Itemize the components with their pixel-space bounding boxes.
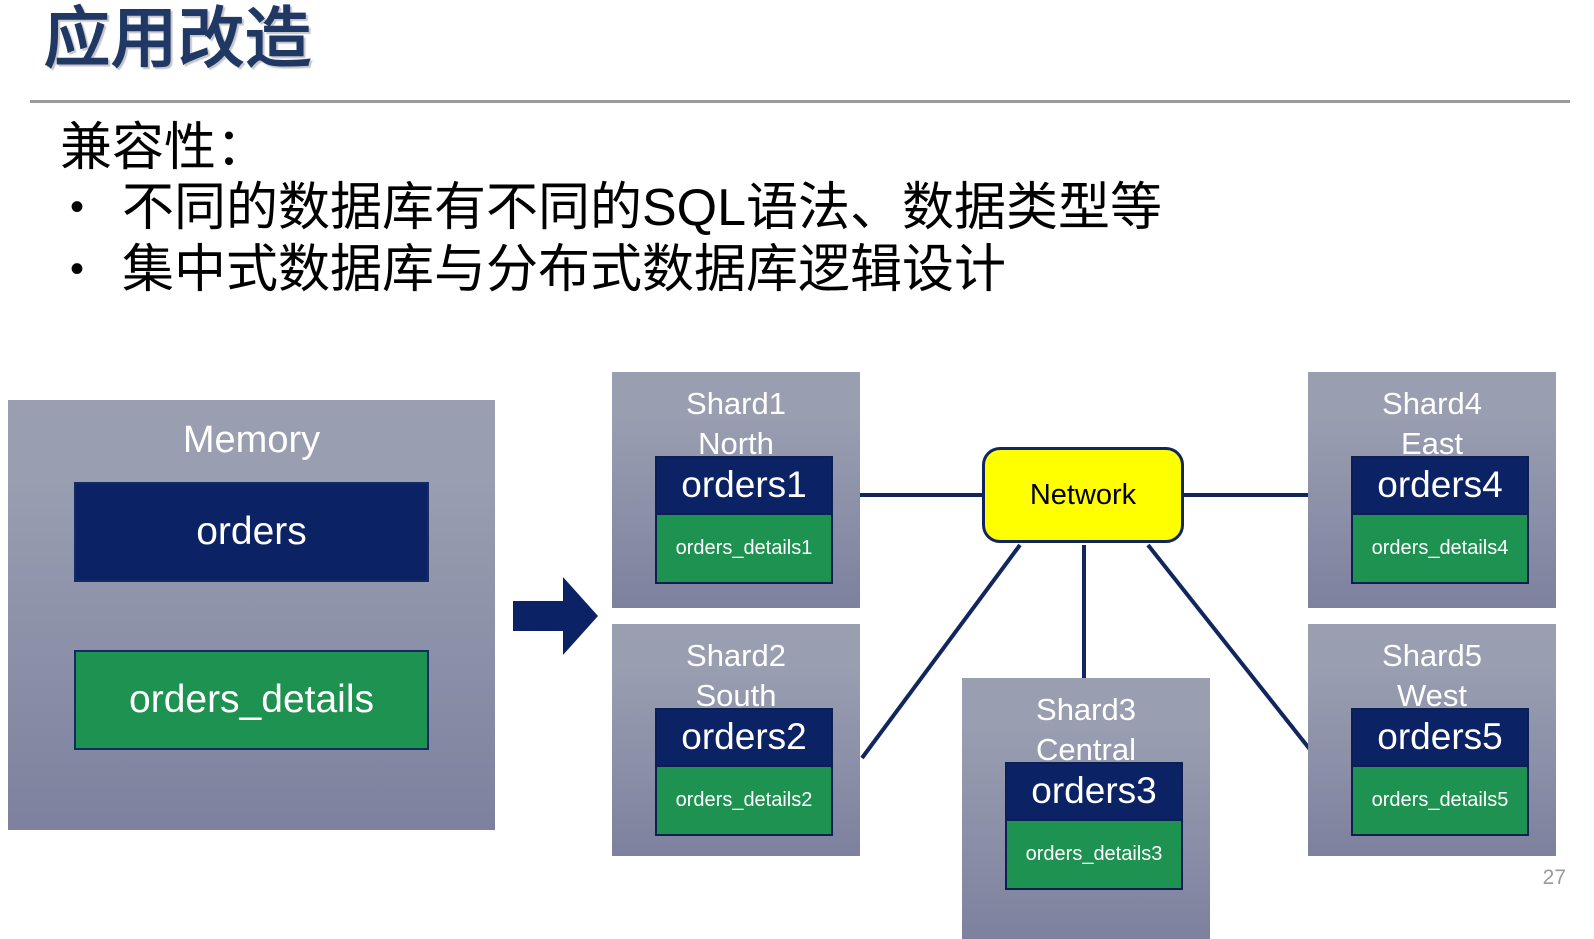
shard-panel-shard4: Shard4East orders4 orders_details4 — [1308, 372, 1556, 608]
shard-panel-shard5: Shard5West orders5 orders_details5 — [1308, 624, 1556, 856]
shard5-details-table: orders_details5 — [1353, 767, 1527, 834]
shard4-orders-table: orders4 — [1353, 458, 1527, 515]
shard4-details-table: orders_details4 — [1353, 515, 1527, 582]
memory-table-orders: orders — [74, 482, 429, 582]
shard-panel-shard1: Shard1North orders1 orders_details1 — [612, 372, 860, 608]
shard5-title: Shard5West — [1308, 624, 1556, 715]
shard4-tables: orders4 orders_details4 — [1351, 456, 1529, 584]
memory-panel-title: Memory — [8, 400, 495, 465]
shard3-orders-table: orders3 — [1007, 764, 1181, 821]
slide-number: 27 — [1543, 866, 1566, 890]
shard-panel-shard2: Shard2South orders2 orders_details2 — [612, 624, 860, 856]
shard3-tables: orders3 orders_details3 — [1005, 762, 1183, 890]
shard5-tables: orders5 orders_details5 — [1351, 708, 1529, 836]
shard3-details-table: orders_details3 — [1007, 821, 1181, 888]
shard2-tables: orders2 orders_details2 — [655, 708, 833, 836]
memory-panel: Memory orders orders_details — [8, 400, 495, 830]
memory-table-orders-details: orders_details — [74, 650, 429, 750]
shard2-title: Shard2South — [612, 624, 860, 715]
shard3-title: Shard3Central — [962, 678, 1210, 769]
sharding-diagram: Memory orders orders_details Shard1North… — [0, 0, 1594, 939]
shard5-orders-table: orders5 — [1353, 710, 1527, 767]
network-node: Network — [982, 447, 1184, 543]
right-arrow-icon — [513, 577, 598, 655]
shard4-title: Shard4East — [1308, 372, 1556, 463]
shard1-title: Shard1North — [612, 372, 860, 463]
shard-panel-shard3: Shard3Central orders3 orders_details3 — [962, 678, 1210, 939]
shard1-tables: orders1 orders_details1 — [655, 456, 833, 584]
shard2-orders-table: orders2 — [657, 710, 831, 767]
shard1-orders-table: orders1 — [657, 458, 831, 515]
shard1-details-table: orders_details1 — [657, 515, 831, 582]
shard2-details-table: orders_details2 — [657, 767, 831, 834]
